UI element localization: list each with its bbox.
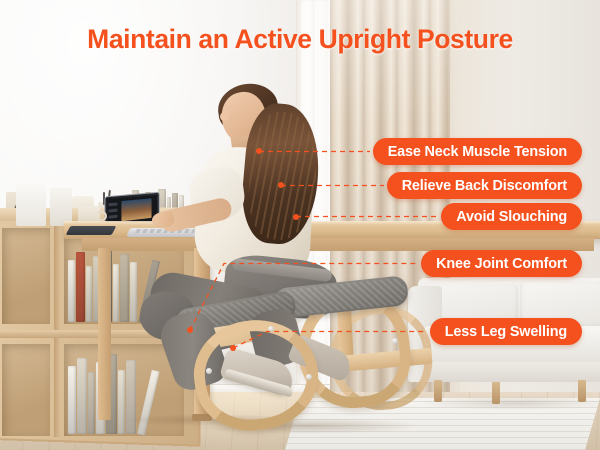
chair-bolt-4 (392, 338, 398, 344)
chair-bolt-2 (206, 368, 212, 374)
callout-pill-neck[interactable]: Ease Neck Muscle Tension (373, 138, 582, 165)
chair-bolt-3 (306, 374, 312, 380)
callout-pill-knee[interactable]: Knee Joint Comfort (421, 250, 582, 277)
infographic-canvas: Maintain an Active Upright Posture Ease … (0, 0, 600, 450)
callout-pill-back[interactable]: Relieve Back Discomfort (387, 172, 582, 199)
callout-pill-leg[interactable]: Less Leg Swelling (430, 318, 582, 345)
callout-pill-slouch[interactable]: Avoid Slouching (441, 203, 582, 230)
chair-bolt-1 (268, 326, 274, 332)
page-title: Maintain an Active Upright Posture (0, 24, 600, 55)
